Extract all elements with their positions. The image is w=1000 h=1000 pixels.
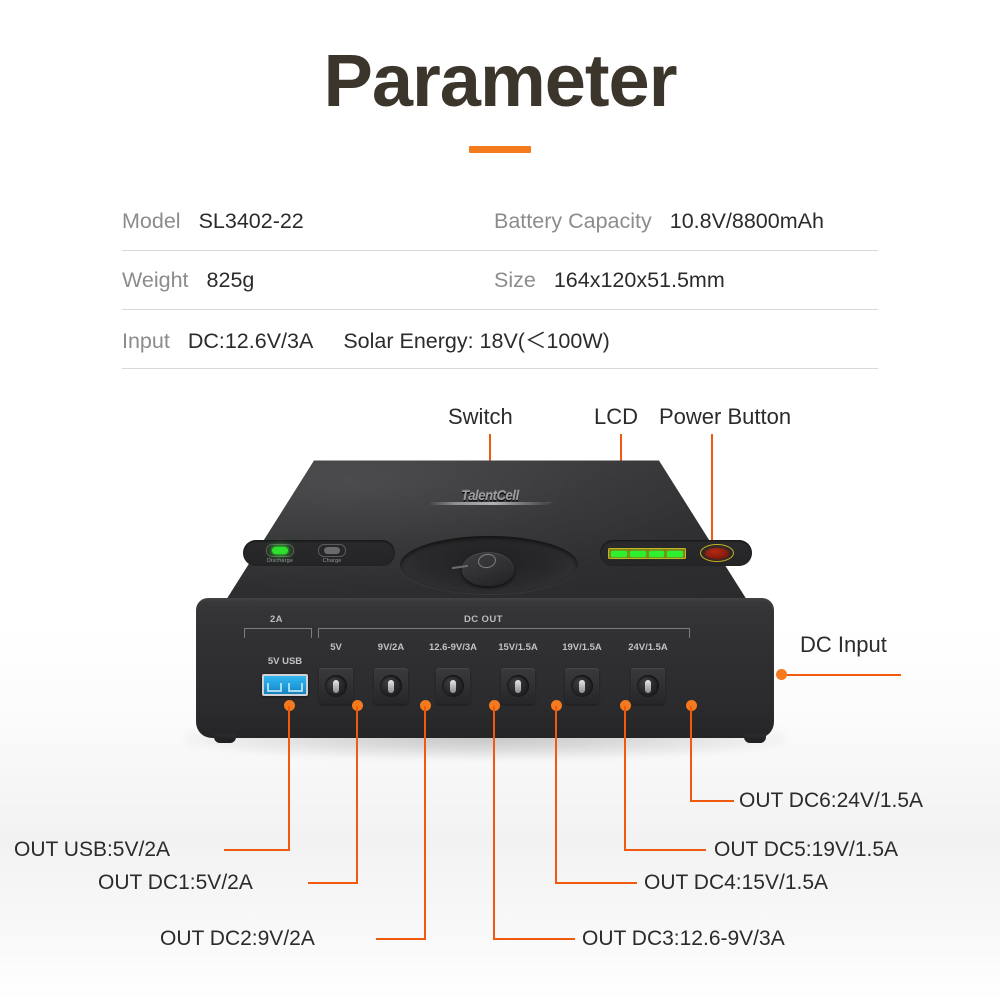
spec-cell-size: Size 164x120x51.5mm <box>494 268 725 293</box>
dc-port-4[interactable] <box>501 668 535 704</box>
dc-port-2[interactable] <box>374 668 408 704</box>
spec-value: 164x120x51.5mm <box>554 268 725 293</box>
dc-port-pin <box>333 680 339 693</box>
leader-dot-dc-input <box>776 669 787 680</box>
callout-label-dc-input: DC Input <box>800 632 887 658</box>
spec-table: Model SL3402-22 Battery Capacity 10.8V/8… <box>122 192 878 369</box>
title-block: Parameter <box>0 44 1000 153</box>
dc-port-hole <box>380 675 402 697</box>
spec-cell-battery-capacity: Battery Capacity 10.8V/8800mAh <box>494 209 824 234</box>
leader-hline-dc2 <box>376 938 426 940</box>
spec-label: Battery Capacity <box>494 209 652 234</box>
usb-contact-icon <box>267 683 282 692</box>
spec-value-solar: Solar Energy: 18V(＜100W) <box>343 324 609 355</box>
lcd-segment <box>649 551 665 557</box>
product-device-illustration: TalentCell Discharge Charge <box>0 440 1000 780</box>
callout-label-out-usb: OUT USB:5V/2A <box>14 838 170 862</box>
port-caption-dc3: 12.6-9V/3A <box>414 642 492 653</box>
dc-port-hole <box>442 675 464 697</box>
port-caption-dc2: 9V/2A <box>362 642 420 653</box>
callout-label-out-dc6: OUT DC6:24V/1.5A <box>739 789 923 813</box>
leader-hline-dc6 <box>690 800 734 802</box>
port-caption-dc5: 19V/1.5A <box>548 642 616 653</box>
dc-port-pin <box>388 680 394 693</box>
lcd-power-panel <box>600 540 752 566</box>
callout-label-power-button: Power Button <box>659 404 791 430</box>
spec-value: DC:12.6V/3A <box>188 329 313 354</box>
spec-label: Size <box>494 268 536 293</box>
port-caption-dc1: 5V <box>316 642 356 653</box>
dc-port-pin <box>579 680 585 693</box>
dc-port-hole <box>507 675 529 697</box>
charge-led-lamp <box>324 547 340 554</box>
spec-value: 10.8V/8800mAh <box>670 209 824 234</box>
spec-cell-weight: Weight 825g <box>122 268 494 293</box>
discharge-led-ring <box>266 544 294 557</box>
indicator-panel: Discharge Charge <box>243 540 395 566</box>
lcd-segment <box>667 551 683 557</box>
callout-label-lcd: LCD <box>594 404 638 430</box>
front-panel-labels: 2A DC OUT 5V USB 5V 9V/2A 12.6-9V/3A 15V… <box>196 598 774 738</box>
usb-port-inner <box>264 676 306 694</box>
discharge-led-lamp <box>272 547 288 554</box>
callout-label-out-dc5: OUT DC5:19V/1.5A <box>714 838 898 862</box>
leader-hline-dc4 <box>555 882 637 884</box>
callout-label-out-dc4: OUT DC4:15V/1.5A <box>644 871 828 895</box>
discharge-led-label: Discharge <box>257 558 303 564</box>
page-title: Parameter <box>0 44 1000 118</box>
leader-vline-dc5 <box>624 706 626 851</box>
port-caption-usb: 5V USB <box>252 656 318 667</box>
dc-port-6[interactable] <box>631 668 665 704</box>
callout-label-out-dc2: OUT DC2:9V/2A <box>160 927 315 951</box>
brand-logo-underline <box>428 502 554 505</box>
dc-port-pin <box>450 680 456 693</box>
spec-cell-input: Input DC:12.6V/3A Solar Energy: 18V(＜100… <box>122 324 610 355</box>
spec-label: Input <box>122 329 170 354</box>
spec-value: 825g <box>207 268 255 293</box>
dc-port-hole <box>637 675 659 697</box>
dc-port-hole <box>325 675 347 697</box>
dc-port-pin <box>645 680 651 693</box>
usb-contact-icon <box>288 683 303 692</box>
dc-port-5[interactable] <box>565 668 599 704</box>
lcd-segment <box>630 551 646 557</box>
spec-row: Model SL3402-22 Battery Capacity 10.8V/8… <box>122 192 878 251</box>
leader-vline-dc3 <box>493 706 495 940</box>
spec-row: Weight 825g Size 164x120x51.5mm <box>122 251 878 310</box>
lcd-display <box>608 548 686 559</box>
charge-led-ring <box>318 544 346 557</box>
dc-port-1[interactable] <box>319 668 353 704</box>
power-button[interactable] <box>700 544 734 562</box>
leader-hline-dc5 <box>624 849 706 851</box>
leader-vline-dc2 <box>424 706 426 940</box>
charge-led-label: Charge <box>309 558 355 564</box>
dc-port-3[interactable] <box>436 668 470 704</box>
leader-vline-usb <box>288 706 290 851</box>
title-underline-accent <box>469 146 531 153</box>
spec-value: SL3402-22 <box>199 209 304 234</box>
callout-label-switch: Switch <box>448 404 513 430</box>
leader-hline-dc1 <box>308 882 358 884</box>
port-caption-dc6: 24V/1.5A <box>614 642 682 653</box>
lcd-segment <box>611 551 627 557</box>
leader-line-dc-input <box>781 674 901 676</box>
usb-port[interactable] <box>262 674 308 696</box>
leader-vline-dc4 <box>555 706 557 884</box>
dc-port-pin <box>515 680 521 693</box>
bracket-dc-out <box>318 628 690 638</box>
indicator-discharge: Discharge <box>257 544 303 564</box>
bracket-caption-dc-out: DC OUT <box>464 614 503 625</box>
dc-port-hole <box>571 675 593 697</box>
power-button-dome <box>705 548 729 559</box>
bracket-caption-2a: 2A <box>270 614 283 625</box>
bracket-2a <box>244 628 312 638</box>
product-spec-page: Parameter Model SL3402-22 Battery Capaci… <box>0 0 1000 1000</box>
spec-cell-model: Model SL3402-22 <box>122 209 494 234</box>
indicator-charge: Charge <box>309 544 355 564</box>
spec-label: Model <box>122 209 181 234</box>
spec-label: Weight <box>122 268 189 293</box>
leader-hline-usb <box>224 849 290 851</box>
leader-vline-dc1 <box>356 706 358 884</box>
brand-logo-text: TalentCell <box>461 488 519 504</box>
callout-label-out-dc1: OUT DC1:5V/2A <box>98 871 253 895</box>
leader-vline-dc6 <box>690 706 692 802</box>
callout-label-out-dc3: OUT DC3:12.6-9V/3A <box>582 927 785 951</box>
spec-row: Input DC:12.6V/3A Solar Energy: 18V(＜100… <box>122 310 878 369</box>
port-caption-dc4: 15V/1.5A <box>484 642 552 653</box>
leader-hline-dc3 <box>493 938 575 940</box>
